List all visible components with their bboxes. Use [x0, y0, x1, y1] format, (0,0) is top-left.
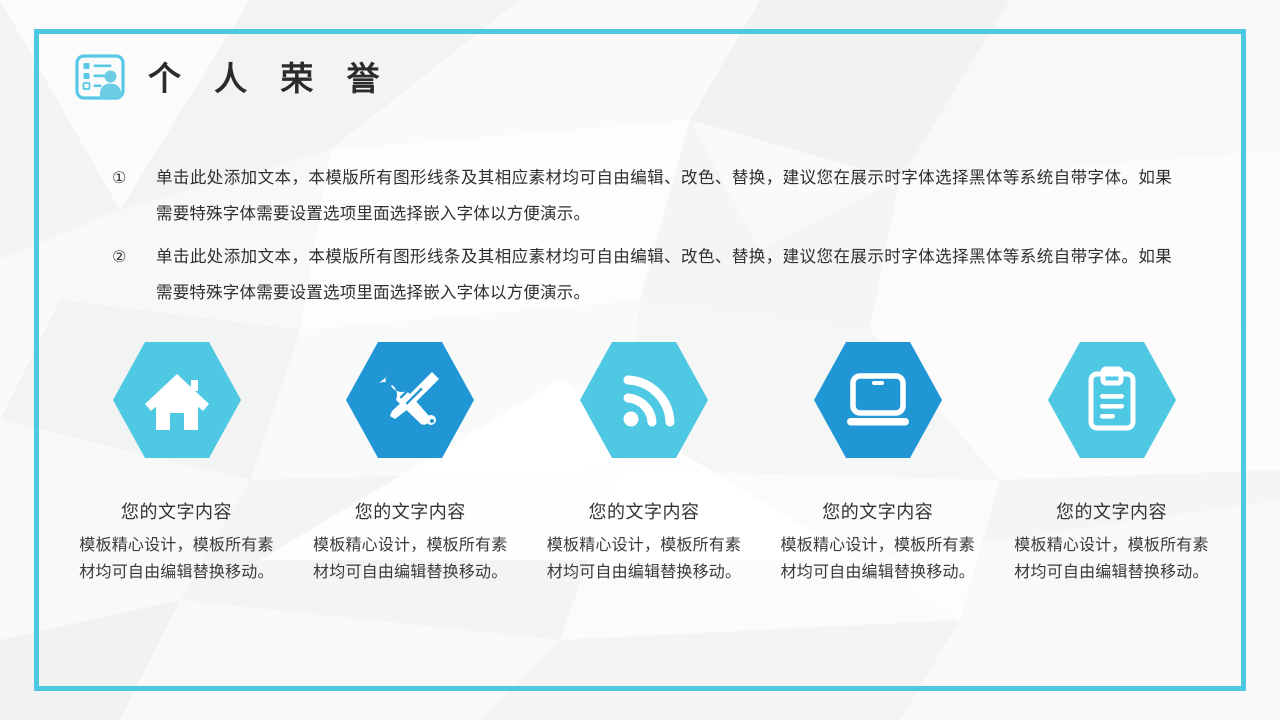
caption-body: 模板精心设计，模板所有素材均可自由编辑替换移动。 [542, 532, 747, 586]
bullet-list: ① 单击此处添加文本，本模版所有图形线条及其相应素材均可自由编辑、改色、替换，建… [112, 160, 1172, 318]
bullet-text: 单击此处添加文本，本模版所有图形线条及其相应素材均可自由编辑、改色、替换，建议您… [156, 160, 1172, 232]
hexagon-shape-1 [113, 336, 241, 464]
hexagon-shape-5 [1048, 336, 1176, 464]
hexagon-shape-4 [814, 336, 942, 464]
hexagon-item-1[interactable] [74, 336, 279, 464]
caption-item-4: 您的文字内容 模板精心设计，模板所有素材均可自由编辑替换移动。 [775, 498, 980, 586]
caption-title: 您的文字内容 [542, 498, 747, 526]
page-header: 个 人 荣 誉 [74, 52, 392, 104]
list-item: ② 单击此处添加文本，本模版所有图形线条及其相应素材均可自由编辑、改色、替换，建… [112, 239, 1172, 311]
hexagon-item-3[interactable] [542, 336, 747, 464]
caption-title: 您的文字内容 [74, 498, 279, 526]
caption-body: 模板精心设计，模板所有素材均可自由编辑替换移动。 [775, 532, 980, 586]
caption-body: 模板精心设计，模板所有素材均可自由编辑替换移动。 [308, 532, 513, 586]
caption-row: 您的文字内容 模板精心设计，模板所有素材均可自由编辑替换移动。 您的文字内容 模… [74, 498, 1214, 586]
bullet-marker: ① [112, 160, 156, 197]
hexagon-item-5[interactable] [1009, 336, 1214, 464]
slide-canvas: 个 人 荣 誉 ① 单击此处添加文本，本模版所有图形线条及其相应素材均可自由编辑… [0, 0, 1280, 720]
caption-title: 您的文字内容 [308, 498, 513, 526]
caption-item-5: 您的文字内容 模板精心设计，模板所有素材均可自由编辑替换移动。 [1009, 498, 1214, 586]
caption-title: 您的文字内容 [775, 498, 980, 526]
hexagon-shape-2 [346, 336, 474, 464]
caption-item-3: 您的文字内容 模板精心设计，模板所有素材均可自由编辑替换移动。 [542, 498, 747, 586]
hexagon-item-2[interactable] [308, 336, 513, 464]
list-item: ① 单击此处添加文本，本模版所有图形线条及其相应素材均可自由编辑、改色、替换，建… [112, 160, 1172, 232]
bullet-marker: ② [112, 239, 156, 276]
hexagon-icon-row [74, 336, 1214, 464]
caption-body: 模板精心设计，模板所有素材均可自由编辑替换移动。 [74, 532, 279, 586]
id-card-list-icon [74, 52, 126, 104]
rss-dot-icon [624, 412, 639, 427]
bullet-text: 单击此处添加文本，本模版所有图形线条及其相应素材均可自由编辑、改色、替换，建议您… [156, 239, 1172, 311]
caption-title: 您的文字内容 [1009, 498, 1214, 526]
page-title: 个 人 荣 誉 [148, 62, 392, 95]
hexagon-shape-3 [580, 336, 708, 464]
caption-item-1: 您的文字内容 模板精心设计，模板所有素材均可自由编辑替换移动。 [74, 498, 279, 586]
hexagon-item-4[interactable] [775, 336, 980, 464]
caption-item-2: 您的文字内容 模板精心设计，模板所有素材均可自由编辑替换移动。 [308, 498, 513, 586]
caption-body: 模板精心设计，模板所有素材均可自由编辑替换移动。 [1009, 532, 1214, 586]
